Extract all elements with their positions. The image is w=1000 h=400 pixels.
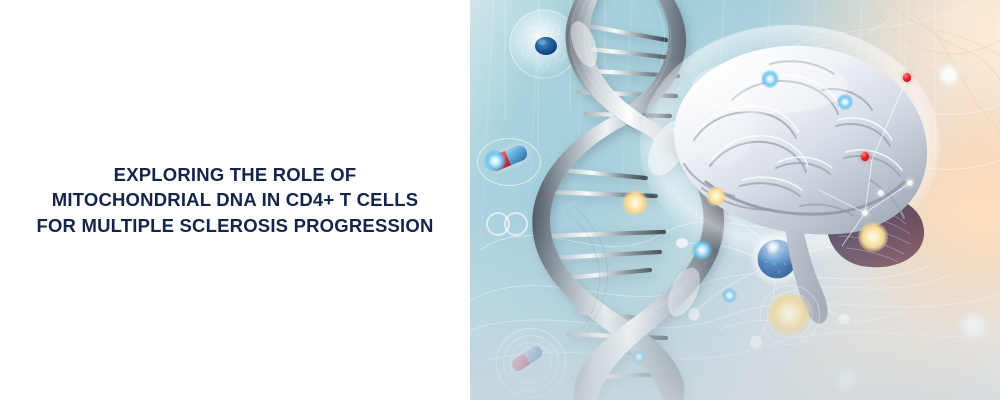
bottom-haze xyxy=(470,0,1000,400)
research-banner: EXPLORING THE ROLE OF MITOCHONDRIAL DNA … xyxy=(0,0,1000,400)
banner-artwork xyxy=(470,0,1000,400)
page-title: EXPLORING THE ROLE OF MITOCHONDRIAL DNA … xyxy=(25,162,445,239)
title-panel: EXPLORING THE ROLE OF MITOCHONDRIAL DNA … xyxy=(0,0,470,400)
